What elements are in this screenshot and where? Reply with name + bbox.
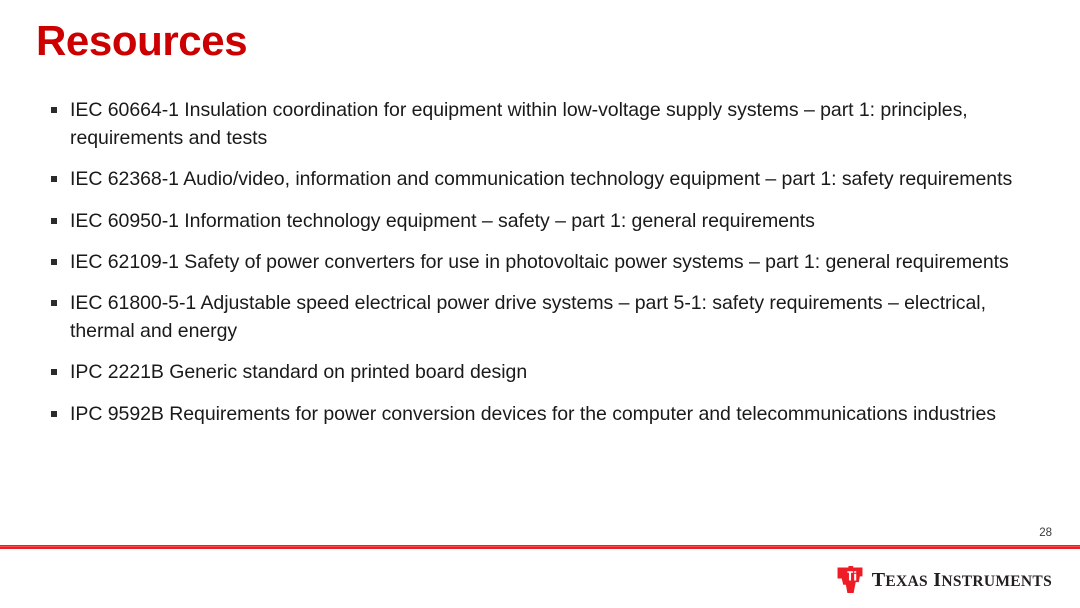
footer-divider	[0, 545, 1080, 549]
list-item: IEC 62109-1 Safety of power converters f…	[46, 248, 1046, 276]
resources-bullet-list: IEC 60664-1 Insulation coordination for …	[46, 96, 1046, 428]
square-bullet-icon	[51, 411, 57, 417]
square-bullet-icon	[51, 259, 57, 265]
list-item: IPC 2221B Generic standard on printed bo…	[46, 358, 1046, 386]
texas-instruments-mark-icon	[837, 566, 863, 593]
page-title: Resources	[36, 18, 247, 64]
wordmark-exas: EXAS	[885, 573, 928, 590]
slide-canvas: Resources IEC 60664-1 Insulation coordin…	[0, 0, 1080, 608]
list-item: IEC 61800-5-1 Adjustable speed electrica…	[46, 289, 1046, 345]
wordmark-nstruments: NSTRUMENTS	[941, 573, 1052, 590]
square-bullet-icon	[51, 300, 57, 306]
list-item-text: IPC 9592B Requirements for power convers…	[70, 400, 1046, 428]
list-item-text: IEC 60950-1 Information technology equip…	[70, 207, 1046, 235]
list-item: IPC 9592B Requirements for power convers…	[46, 400, 1046, 428]
square-bullet-icon	[51, 369, 57, 375]
square-bullet-icon	[51, 176, 57, 182]
list-item-text: IEC 60664-1 Insulation coordination for …	[70, 96, 1046, 152]
texas-instruments-wordmark: TEXAS INSTRUMENTS	[872, 570, 1052, 590]
page-number: 28	[1039, 527, 1052, 539]
list-item: IEC 62368-1 Audio/video, information and…	[46, 165, 1046, 193]
square-bullet-icon	[51, 107, 57, 113]
wordmark-t: T	[872, 569, 886, 591]
list-item-text: IEC 62368-1 Audio/video, information and…	[70, 165, 1046, 193]
texas-instruments-logo: TEXAS INSTRUMENTS	[837, 566, 1052, 593]
list-item: IEC 60664-1 Insulation coordination for …	[46, 96, 1046, 152]
list-item-text: IEC 61800-5-1 Adjustable speed electrica…	[70, 289, 1046, 345]
square-bullet-icon	[51, 218, 57, 224]
list-item-text: IEC 62109-1 Safety of power converters f…	[70, 248, 1046, 276]
list-item-text: IPC 2221B Generic standard on printed bo…	[70, 358, 1046, 386]
list-item: IEC 60950-1 Information technology equip…	[46, 207, 1046, 235]
